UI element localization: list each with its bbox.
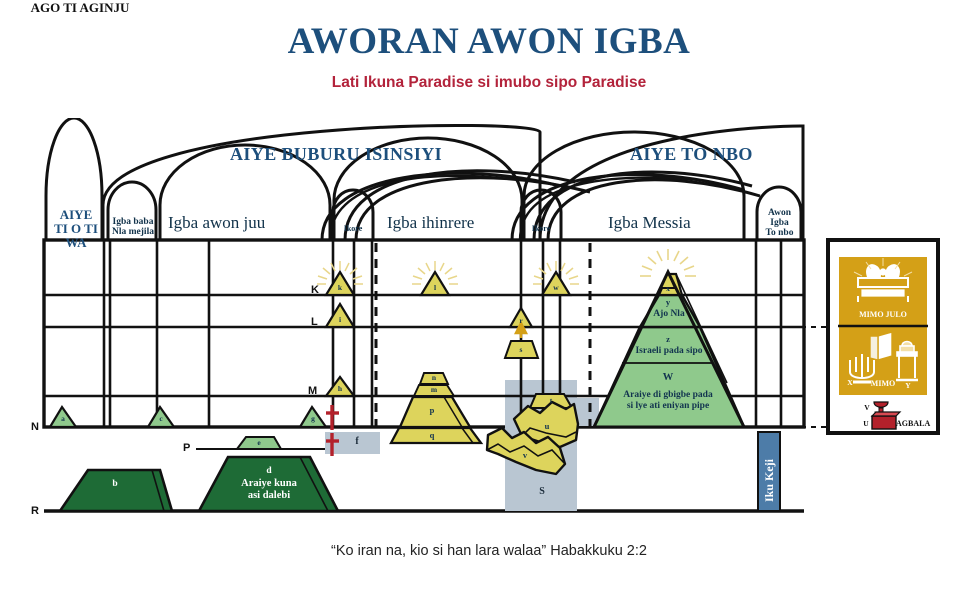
arch-label-ikore-1: Ikore [330,224,376,233]
arch-label-awon-igba-to-nbo: Awon Igba To nbo [757,208,802,238]
axis-label-K: K [311,284,319,296]
aiye-line1: AIYE [48,208,104,222]
shape-w [542,272,570,295]
arch-label-igba-messia: Igba Messia [608,213,691,233]
shape-h [326,377,354,396]
tabernacle-courtyard: AGBALA [896,419,942,428]
shape-p [400,397,470,427]
chart-canvas: AWORAN AWON IGBA Lati Ikuna Paradise si … [0,0,978,597]
arch-label-igba-baba-nla-mejila: Igba baba Nla mejila [108,217,158,237]
shape-s [505,323,538,358]
axis-label-R: R [31,505,39,517]
showbread-icon [870,332,892,360]
axis-label-M: M [308,385,317,397]
shape-c [148,407,174,427]
iku-keji-label: Iku Keji [762,459,777,502]
awon-line3: To nbo [757,228,802,238]
shape-q [391,428,481,443]
diagram-svg [0,0,978,597]
shape-n [420,373,448,384]
shape-a [50,407,76,427]
shape-m [414,385,454,396]
tabernacle-holy: MIMO [838,379,928,388]
shape-k [326,272,354,295]
shape-i [326,304,354,327]
tabernacle-panel [828,240,938,433]
arch-label-ikore-2: Ikore [518,224,564,233]
shape-l [421,272,449,295]
aiye-line2: TI O TI WA [48,222,104,250]
arch-label-aiye-ti-o-ti-wa: AIYE TI O TI WA [48,208,104,250]
shape-d [199,457,338,511]
arch-label-igba-awon-juu: Igba awon juu [168,213,265,233]
arch-label-aiye-buburu-isinsiyi: AIYE BUBURU ISINSIYI [230,144,442,165]
baba-line1: Igba baba [108,217,158,227]
tabernacle-holy-of-holies: MIMO JULO [838,310,928,319]
shape-e [237,437,281,449]
awon-line1: Awon [757,208,802,218]
arch-label-igba-ihinrere: Igba ihinrere [387,213,474,233]
footer-quote: “Ko iran na, kio si han lara walaa” Haba… [0,543,978,559]
arch-label-aiye-to-nbo: AIYE TO NBO [630,144,753,165]
shape-b [60,470,172,511]
axis-label-L: L [311,316,318,328]
awon-line2: Igba [757,218,802,228]
axis-label-P: P [183,442,190,454]
baba-line2: Nla mejila [108,227,158,237]
axis-label-N: N [31,421,39,433]
